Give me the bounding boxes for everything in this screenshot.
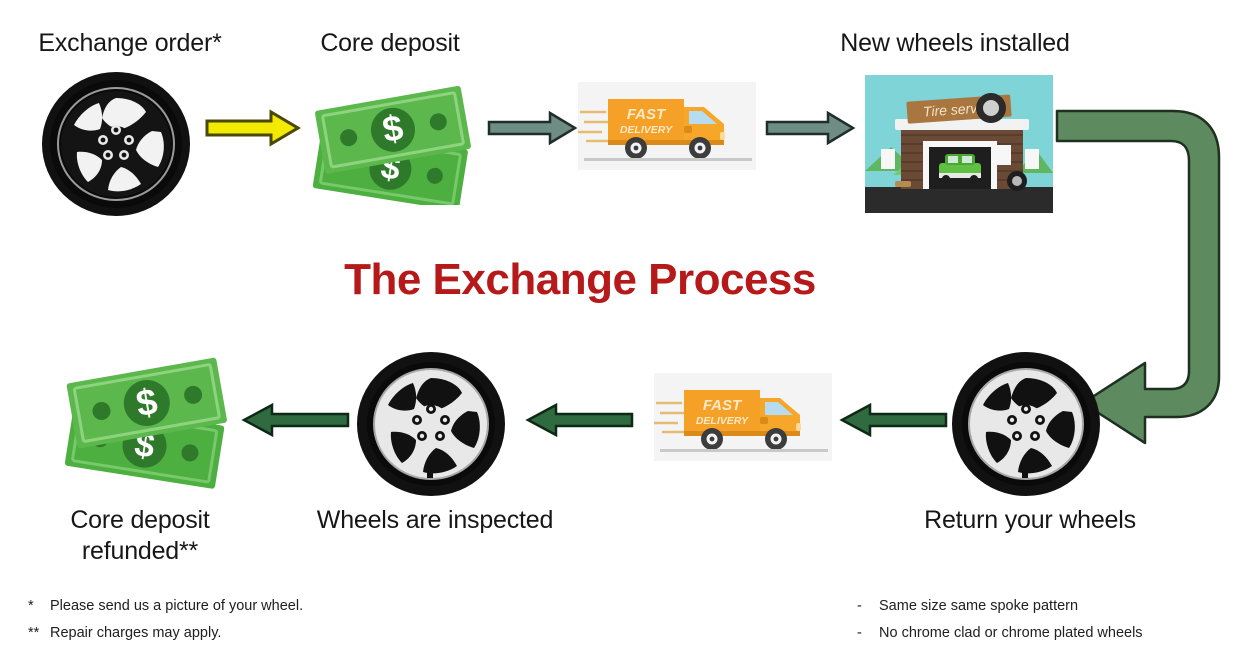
label-core-deposit: Core deposit [290,28,490,59]
footnote-left-2-mark: ** [28,620,50,647]
label-new-wheels-installed: New wheels installed [810,28,1100,59]
label-exchange-order: Exchange order* [10,28,250,59]
arrow-truck-to-shop [765,110,855,146]
arrow-inspection-to-refund [240,403,350,437]
delivery-truck-graphic-outbound: FAST DELIVERY [578,82,756,170]
footnotes-left: *Please send us a picture of your wheel.… [28,593,303,647]
arrow-truck-to-inspection [524,403,634,437]
truck-text-fast: FAST [703,397,743,414]
footnote-left-2: **Repair charges may apply. [28,620,303,647]
silver-wheel-graphic-inspected [355,350,507,498]
footnote-left-1: *Please send us a picture of your wheel. [28,593,303,620]
delivery-truck-graphic-return: FAST DELIVERY [654,373,832,461]
truck-text-delivery: DELIVERY [696,415,749,427]
exchange-process-diagram: Exchange order* Core deposit New wheels … [0,0,1250,666]
money-graphic-refund: $ $ [55,348,240,490]
label-wheels-are-inspected: Wheels are inspected [285,505,585,536]
footnote-right-1-text: Same size same spoke pattern [879,598,1078,614]
silver-wheel-graphic-return [950,350,1102,498]
truck-text-fast: FAST [627,106,667,123]
tire-service-shop-graphic: Tire service [865,75,1053,213]
footnote-right-1: -Same size same spoke pattern [857,593,1143,620]
footnote-left-1-mark: * [28,593,50,620]
label-core-deposit-refunded: Core deposit refunded** [30,505,250,568]
footnote-right-2-text: No chrome clad or chrome plated wheels [879,625,1143,641]
footnotes-right: -Same size same spoke pattern -No chrome… [857,593,1143,647]
money-graphic-deposit: $ $ [305,80,480,205]
arrow-deposit-to-truck [487,110,577,146]
footnote-right-2: -No chrome clad or chrome plated wheels [857,620,1143,647]
footnote-left-1-text: Please send us a picture of your wheel. [50,598,303,614]
black-wheel-graphic [40,70,192,218]
truck-text-delivery: DELIVERY [620,124,673,136]
diagram-title: The Exchange Process [0,255,1160,305]
arrow-order-to-deposit [205,110,300,146]
arrow-return-to-truck [838,403,948,437]
footnote-left-2-text: Repair charges may apply. [50,625,221,641]
footnote-right-1-mark: - [857,593,879,620]
label-return-your-wheels: Return your wheels [880,505,1180,536]
footnote-right-2-mark: - [857,620,879,647]
